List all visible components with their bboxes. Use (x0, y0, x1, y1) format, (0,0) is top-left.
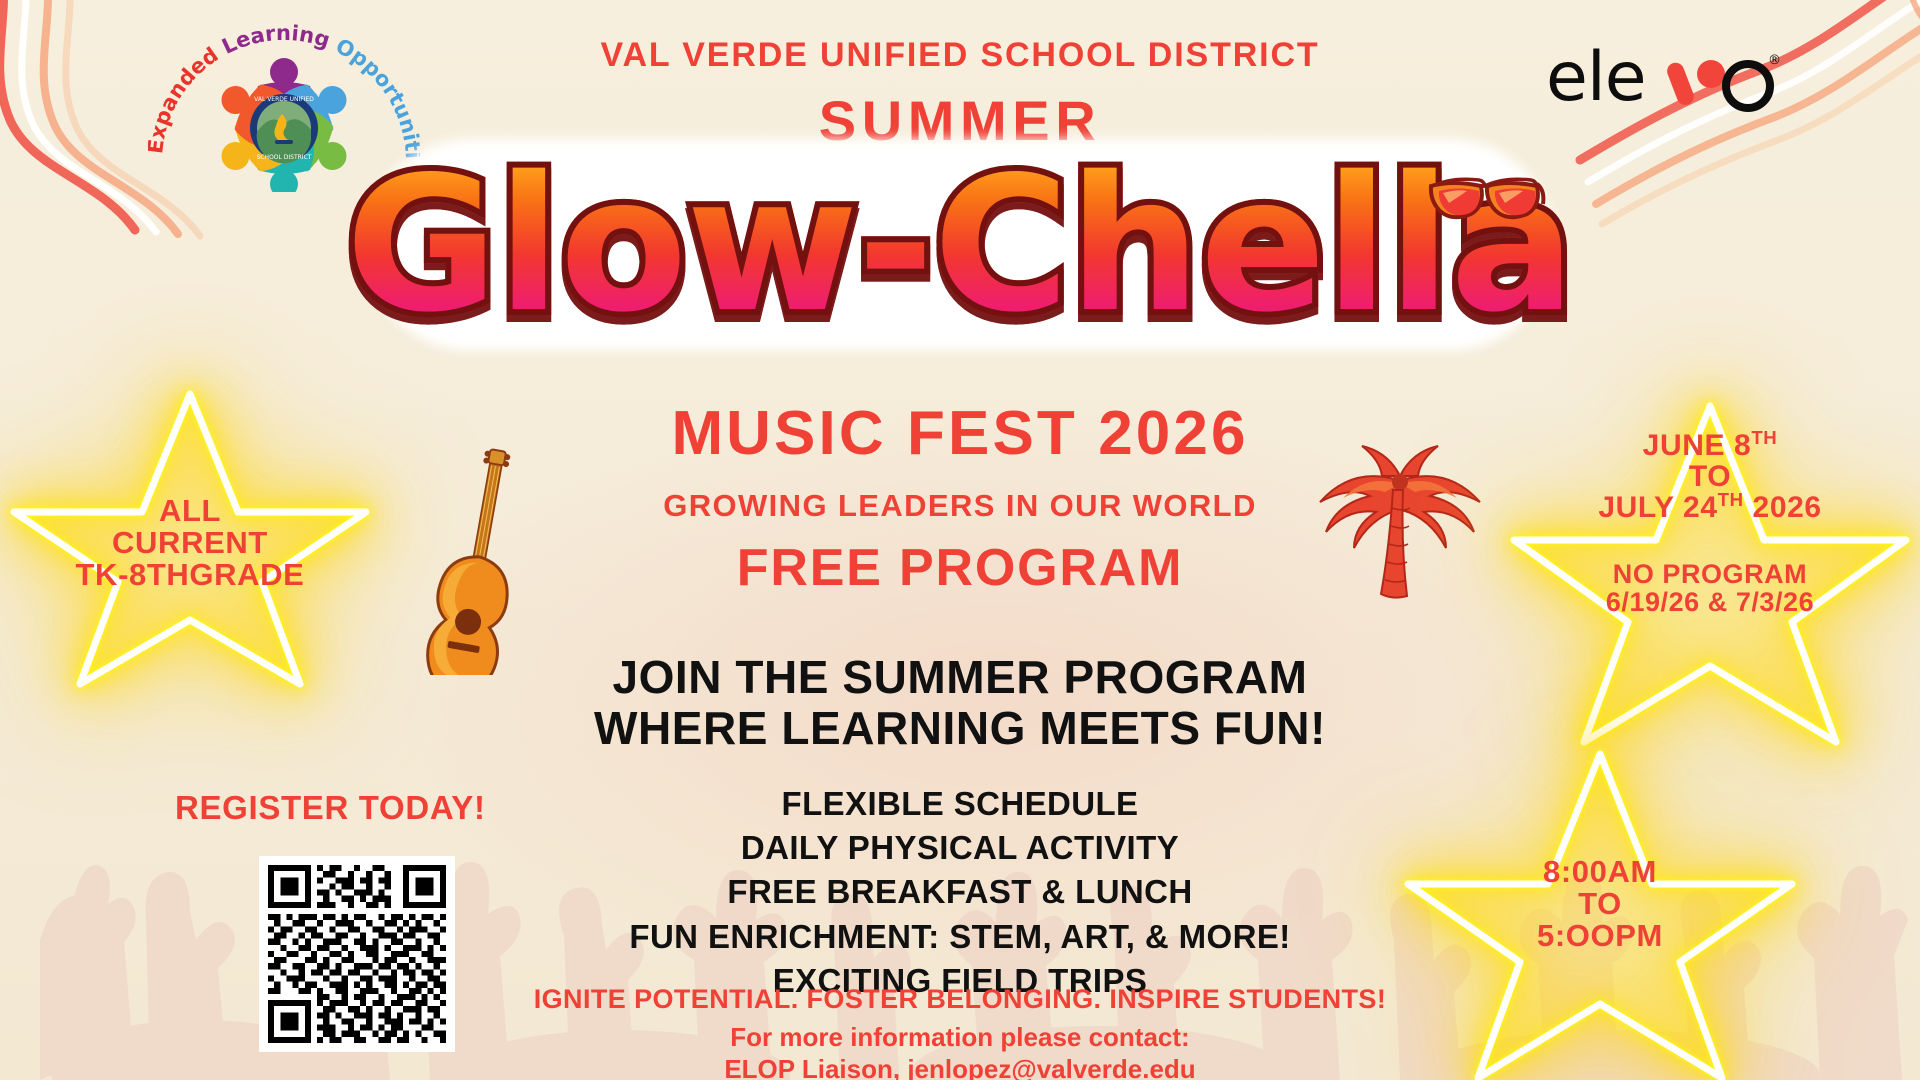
title-text-fill: Glow-Chella (345, 152, 1574, 338)
qr-code-image[interactable] (268, 865, 446, 1043)
glow-chella-title: Glow-Chella Glow-Chella (345, 152, 1574, 338)
svg-text:®: ® (1768, 53, 1781, 68)
tagline-growing-leaders: GROWING LEADERS IN OUR WORLD (0, 488, 1920, 524)
flyer-canvas: Expanded Learning Opportunities Program (0, 0, 1920, 1080)
guitar-icon (425, 445, 535, 675)
sunglasses-icon (1427, 170, 1547, 230)
contact-line-2: ELOP Liaison, jenlopez@valverde.edu (0, 1054, 1920, 1080)
music-fest-heading: MUSIC FEST 2026 (0, 398, 1920, 469)
svg-text:ele: ele (1546, 42, 1646, 116)
palm-tree-icon (1300, 440, 1500, 640)
join-headline: JOIN THE SUMMER PROGRAM WHERE LEARNING M… (0, 652, 1920, 753)
register-today-label: REGISTER TODAY! (175, 789, 486, 827)
free-program-heading: FREE PROGRAM (0, 538, 1920, 598)
elevo-logo: ele ® (1546, 42, 1782, 116)
main-title-block: Glow-Chella Glow-Chella (0, 152, 1920, 382)
join-line-1: JOIN THE SUMMER PROGRAM (0, 652, 1920, 703)
qr-code[interactable] (259, 856, 455, 1052)
join-line-2: WHERE LEARNING MEETS FUN! (0, 703, 1920, 754)
